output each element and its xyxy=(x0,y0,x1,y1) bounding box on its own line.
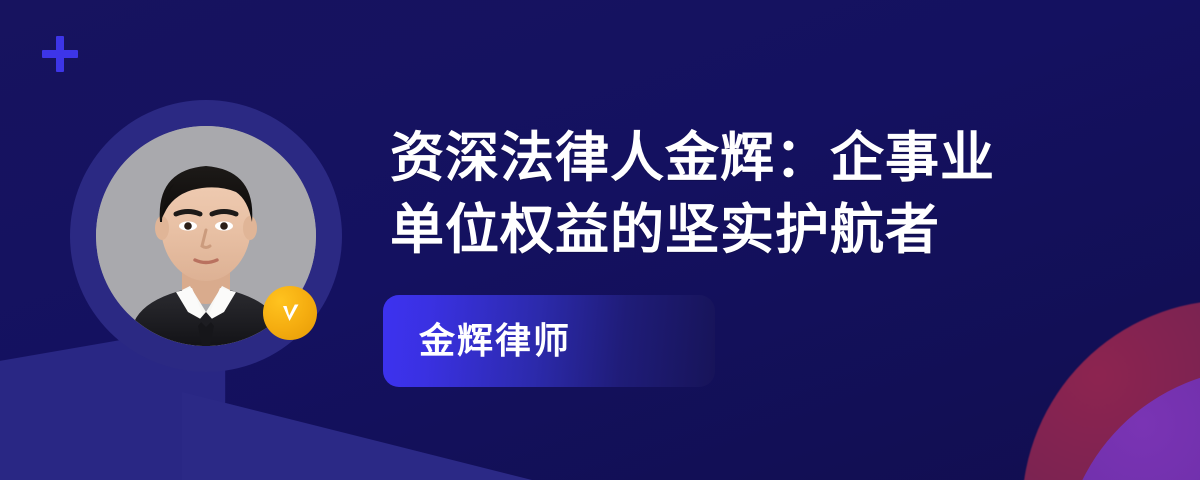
lawyer-name-label: 金辉律师 xyxy=(419,323,571,359)
plus-icon xyxy=(42,36,78,72)
headline-line-1: 资深法律人金辉：企事业 xyxy=(390,122,1090,194)
lawyer-profile-banner: 资深法律人金辉：企事业 单位权益的坚实护航者 金辉律师 xyxy=(0,0,1200,480)
avatar xyxy=(70,100,342,372)
lawyer-name-pill[interactable]: 金辉律师 xyxy=(383,295,715,387)
verified-check-icon xyxy=(263,286,317,340)
headline-line-2: 单位权益的坚实护航者 xyxy=(390,194,1090,266)
headline-block: 资深法律人金辉：企事业 单位权益的坚实护航者 xyxy=(390,122,1090,266)
